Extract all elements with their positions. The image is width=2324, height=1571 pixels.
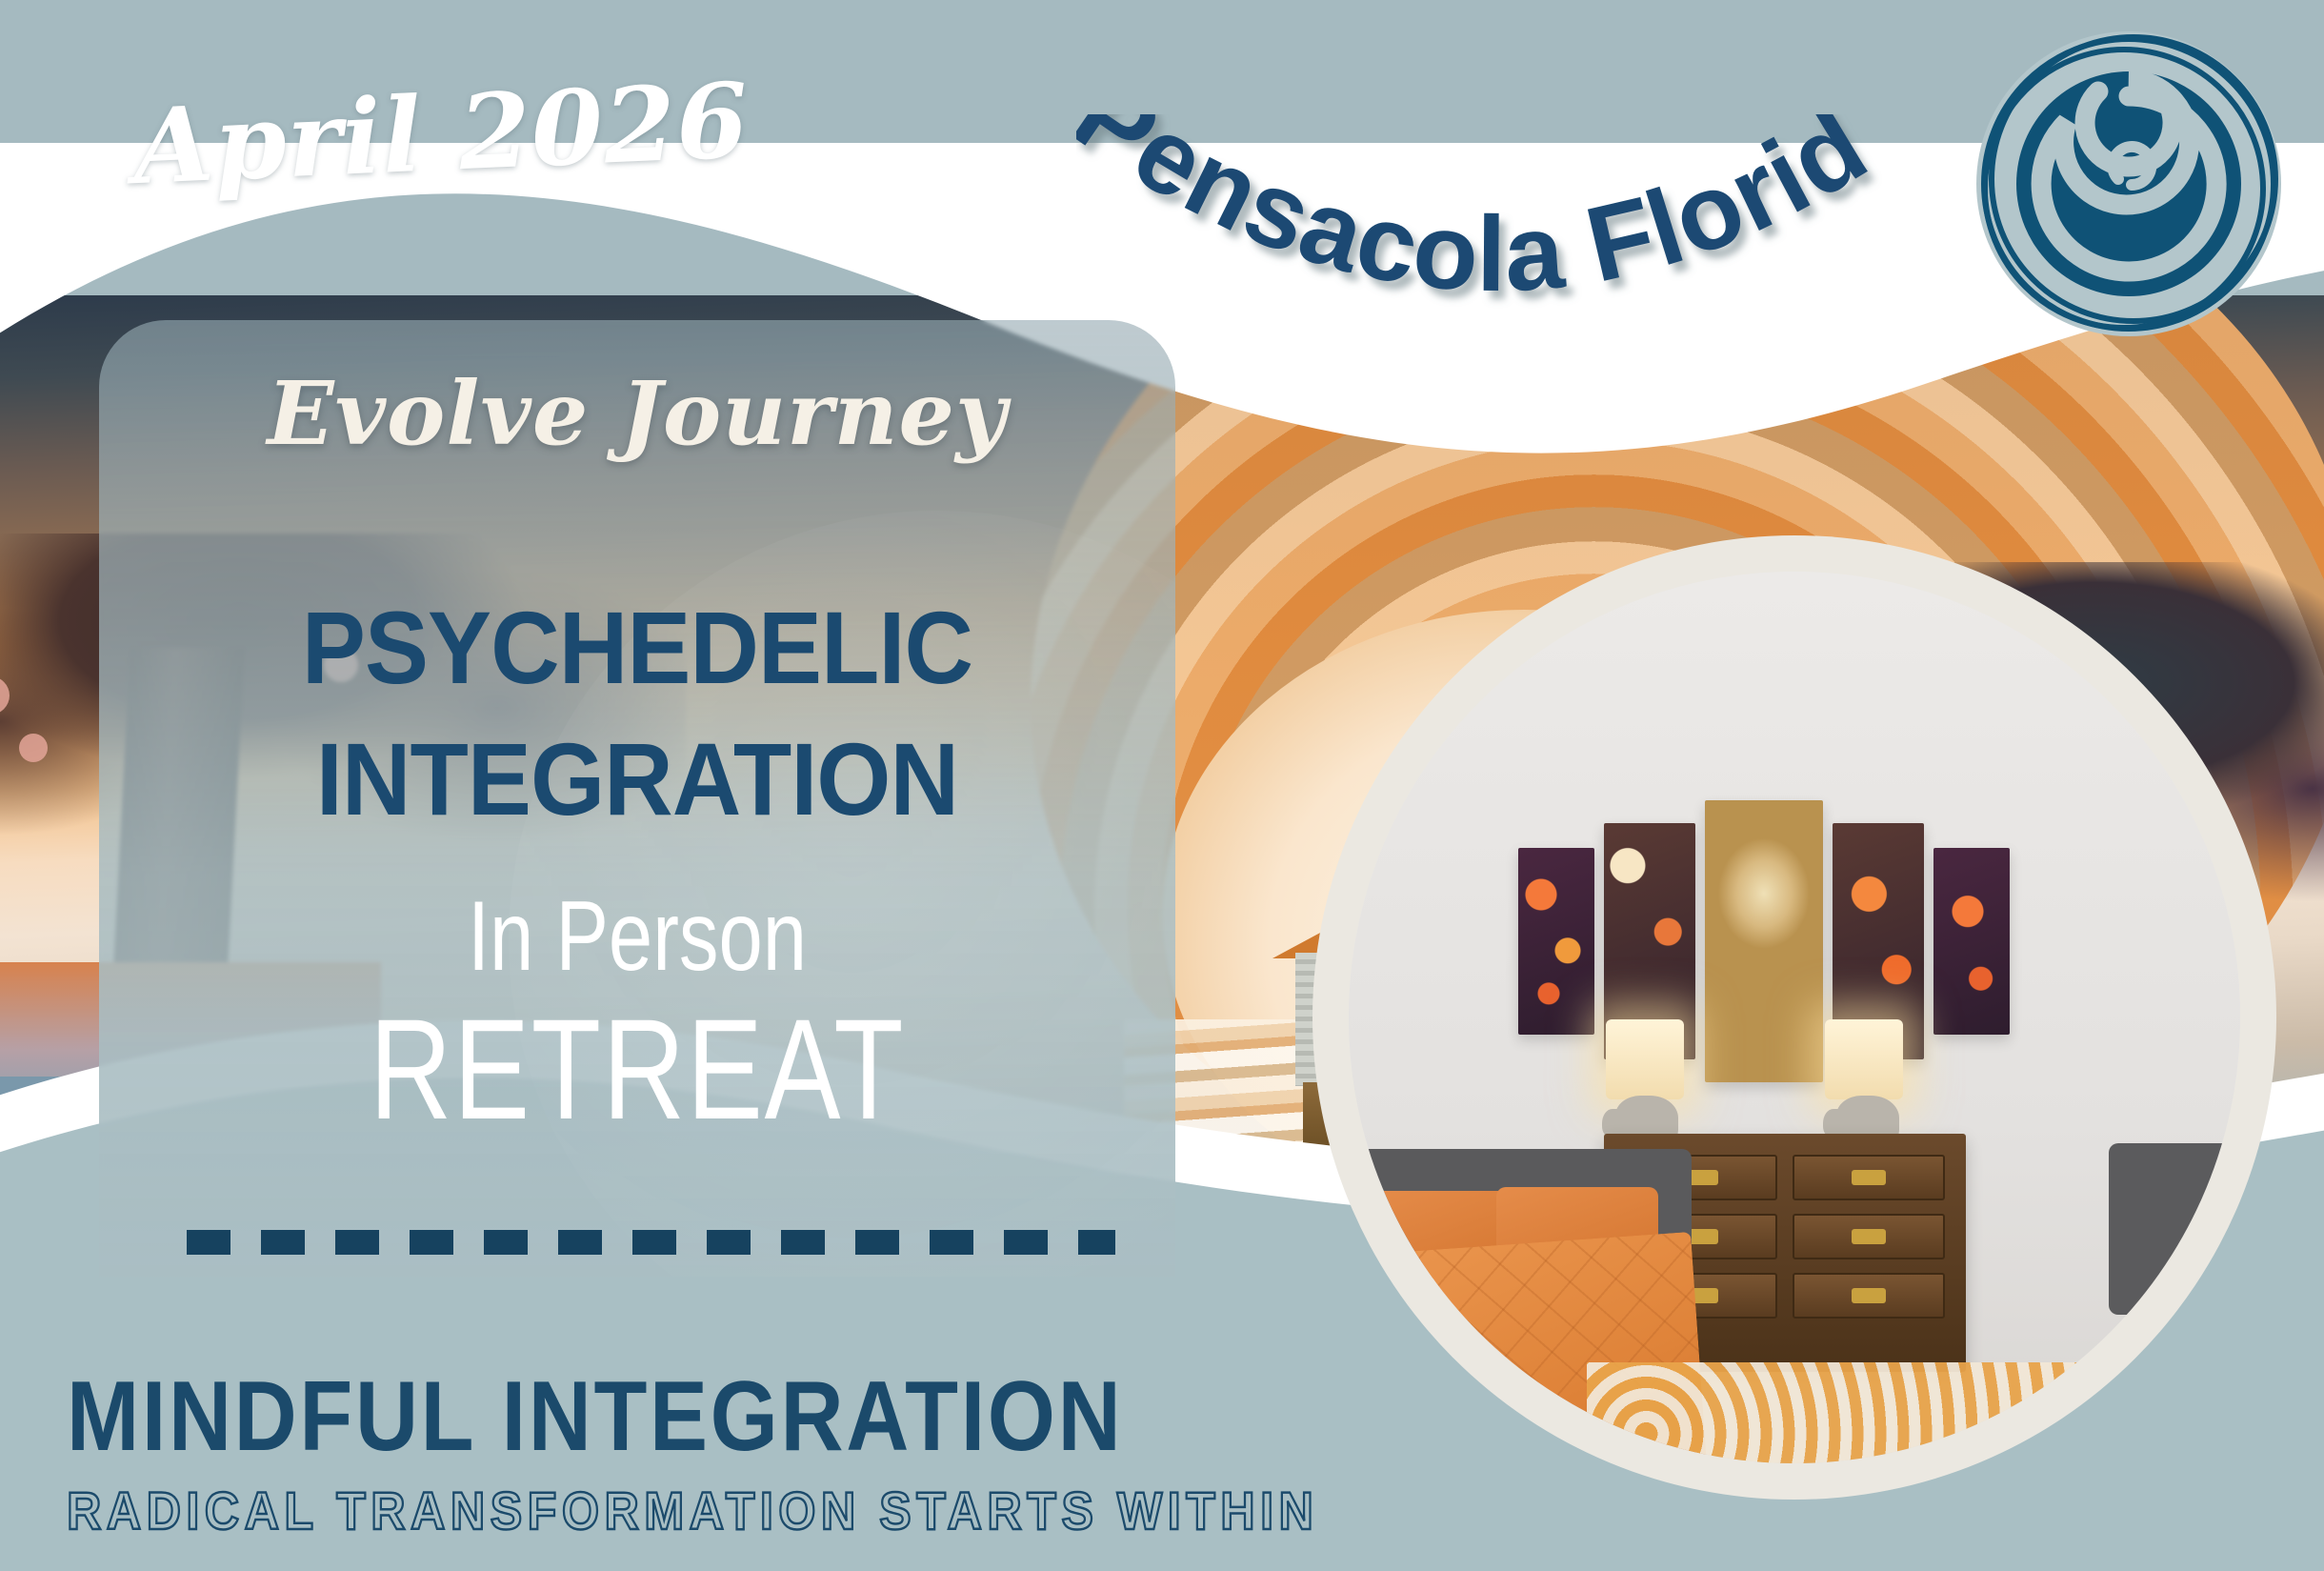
card-subhead: In Person (207, 880, 1068, 994)
card-main-word: RETREAT (207, 987, 1068, 1152)
headline-line-1: PSYCHEDELIC (137, 587, 1138, 708)
card-eyebrow: Evolve Journey (99, 362, 1175, 465)
headboard-right (2109, 1143, 2240, 1315)
ganesha-canvas-art (1518, 798, 2052, 1084)
headline-line-2: INTEGRATION (137, 718, 1138, 839)
brand-name: MINDFUL INTEGRATION (67, 1360, 1114, 1474)
promotional-poster: April 2026 Pensacola Florida Evolve Jour (0, 0, 2324, 1571)
retreat-bedroom-photo (1349, 572, 2240, 1463)
photo-ring (1312, 535, 2276, 1500)
navy-dashed-divider (187, 1230, 1115, 1255)
brand-lockup: MINDFUL INTEGRATION RADICAL TRANSFORMATI… (67, 1360, 1257, 1541)
brand-tagline: RADICAL TRANSFORMATION STARTS WITHIN (67, 1480, 1138, 1541)
spiral-icon (1972, 27, 2286, 341)
patterned-rug (1587, 1362, 2082, 1463)
content-card: Evolve Journey PSYCHEDELIC INTEGRATION I… (99, 320, 1175, 1277)
